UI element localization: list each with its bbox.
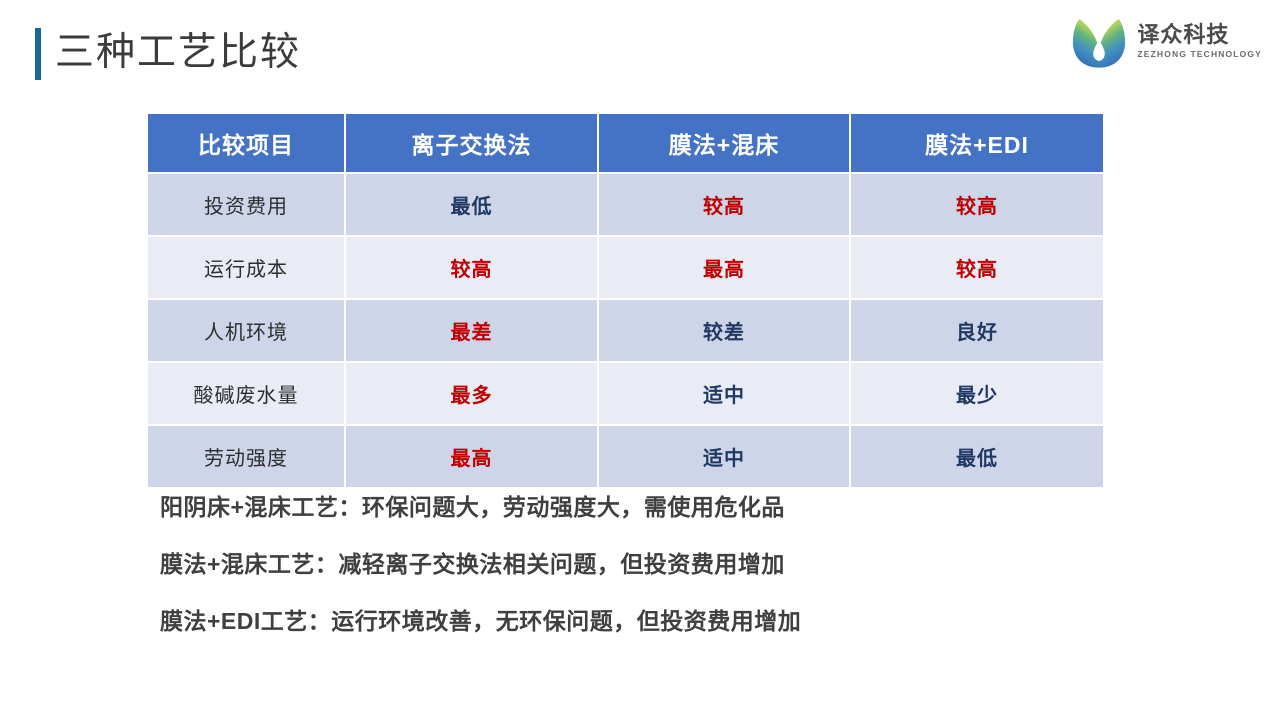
table-cell-value: 最高: [599, 235, 851, 298]
table-cell-value: 较高: [599, 172, 851, 235]
table-cell-value: 较差: [599, 298, 851, 361]
table-cell-value: 最高: [346, 424, 599, 487]
note-line: 膜法+EDI工艺：运行环境改善，无环保问题，但投资费用增加: [160, 606, 1140, 636]
table-header-cell: 膜法+混床: [599, 114, 851, 172]
summary-notes: 阳阴床+混床工艺：环保问题大，劳动强度大，需使用危化品 膜法+混床工艺：减轻离子…: [160, 492, 1140, 636]
table-row-label: 投资费用: [148, 172, 346, 235]
table-row: 酸碱废水量最多适中最少: [148, 361, 1103, 424]
company-logo: 译众科技 ZEZHONG TECHNOLOGY: [1070, 12, 1262, 70]
note-line: 阳阴床+混床工艺：环保问题大，劳动强度大，需使用危化品: [160, 492, 1140, 522]
table-row: 投资费用最低较高较高: [148, 172, 1103, 235]
table-header: 比较项目 离子交换法 膜法+混床 膜法+EDI: [148, 114, 1103, 172]
table-cell-value: 最低: [851, 424, 1103, 487]
table-cell-value: 适中: [599, 424, 851, 487]
leaf-droplet-icon: [1070, 12, 1128, 70]
table-cell-value: 最少: [851, 361, 1103, 424]
table-cell-value: 较高: [346, 235, 599, 298]
table-row-label: 酸碱废水量: [148, 361, 346, 424]
logo-company-name: 译众科技: [1137, 22, 1262, 48]
table-row-label: 人机环境: [148, 298, 346, 361]
table-header-row: 比较项目 离子交换法 膜法+混床 膜法+EDI: [148, 114, 1103, 172]
table-row: 运行成本较高最高较高: [148, 235, 1103, 298]
table-row: 劳动强度最高适中最低: [148, 424, 1103, 487]
table-body: 投资费用最低较高较高运行成本较高最高较高人机环境最差较差良好酸碱废水量最多适中最…: [148, 172, 1103, 487]
table-header-cell: 膜法+EDI: [851, 114, 1103, 172]
table-cell-value: 适中: [599, 361, 851, 424]
table-row: 人机环境最差较差良好: [148, 298, 1103, 361]
table-row-label: 劳动强度: [148, 424, 346, 487]
note-line: 膜法+混床工艺：减轻离子交换法相关问题，但投资费用增加: [160, 549, 1140, 579]
logo-company-subtitle: ZEZHONG TECHNOLOGY: [1137, 48, 1262, 61]
table-cell-value: 较高: [851, 172, 1103, 235]
table-cell-value: 最多: [346, 361, 599, 424]
process-comparison-table: 比较项目 离子交换法 膜法+混床 膜法+EDI 投资费用最低较高较高运行成本较高…: [148, 114, 1103, 487]
table-cell-value: 最差: [346, 298, 599, 361]
table-cell-value: 最低: [346, 172, 599, 235]
table-row-label: 运行成本: [148, 235, 346, 298]
table-header-cell: 离子交换法: [346, 114, 599, 172]
table-cell-value: 良好: [851, 298, 1103, 361]
page-title: 三种工艺比较: [55, 26, 301, 80]
table-cell-value: 较高: [851, 235, 1103, 298]
logo-text-block: 译众科技 ZEZHONG TECHNOLOGY: [1137, 22, 1262, 61]
table-header-cell: 比较项目: [148, 114, 346, 172]
title-accent-bar: [35, 28, 41, 80]
